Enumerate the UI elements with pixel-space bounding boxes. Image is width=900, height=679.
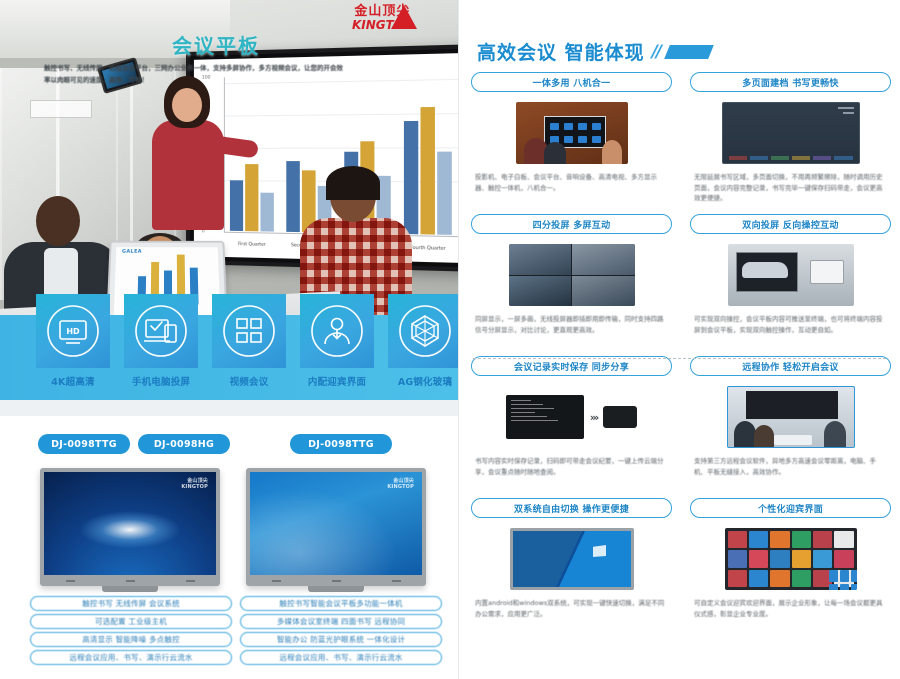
- section-divider: [0, 400, 458, 416]
- product-monitor-right: 金山顶尖 KINGTOP: [246, 468, 426, 586]
- feature-description: 投影机、电子白板、会议平台、音响设备、高清电视、多方显示器、触控一体机，八机合一…: [471, 172, 672, 193]
- model-badges: DJ-0098TTG DJ-0098HG DJ-0098TTG: [0, 434, 458, 456]
- screen-logo: 金山顶尖 KINGTOP: [387, 479, 414, 491]
- tablet-chart-title: GALEA: [122, 249, 142, 255]
- feature-card[interactable]: 四分投屏 多屏互动同屏显示，一屏多画，无线投屏器即插即用即传输，同时支持四路信号…: [471, 214, 672, 356]
- feature-description: 支持第三方远程会议软件，异地多方高速会议零距离，电脑、手机、平板无缝接入，高效协…: [690, 456, 891, 477]
- remote-meeting-thumb: [727, 386, 855, 448]
- note-to-phone-thumb: ›››: [506, 395, 638, 439]
- bar-group: [228, 165, 275, 232]
- ceiling-light-decor: [30, 100, 92, 118]
- phone-icon: [603, 406, 637, 428]
- product-screen-right: 金山顶尖 KINGTOP: [250, 472, 422, 575]
- welcome-user-icon: [300, 294, 374, 368]
- screen-logo-en: KINGTOP: [387, 484, 414, 490]
- chart-x-tick: First Quarter: [228, 242, 275, 248]
- brochure-page: 1007550250 First QuarterSecond QuarterTh…: [0, 0, 900, 679]
- bar: [420, 107, 434, 234]
- feature-thumbnail: [471, 242, 672, 308]
- feature-thumbnail: [690, 384, 891, 450]
- bar: [286, 161, 300, 232]
- monitor-controls: [246, 577, 426, 584]
- feature-pill[interactable]: 一体多用 八机合一: [471, 72, 672, 92]
- product-monitor-left: 金山顶尖 KINGTOP: [40, 468, 220, 586]
- dual-os-thumb: [510, 528, 634, 590]
- spec-list-left: 触控书写 无线传屏 会议系统可选配置 工业级主机高清显示 智能降噪 多点触控远程…: [30, 596, 232, 668]
- feature-pill[interactable]: 双系统自由切换 操作更便捷: [471, 498, 672, 518]
- feature-icon-label: 4K超高清: [36, 374, 110, 388]
- spec-pill: 触控书写 无线传屏 会议系统: [30, 596, 232, 611]
- right-panel-title: 高效会议 智能体现 //: [477, 38, 711, 65]
- products-section: DJ-0098TTG DJ-0098HG DJ-0098TTG 金山顶尖 KIN…: [0, 416, 458, 679]
- feature-icon-label: 内配迎宾界面: [300, 374, 374, 388]
- dark-whiteboard-thumb: [722, 102, 860, 164]
- spec-pill: 可选配置 工业级主机: [30, 614, 232, 629]
- feature-card[interactable]: 双系统自由切换 操作更便捷内置android和windows双系统，可实现一键快…: [471, 498, 672, 640]
- feature-thumbnail: [690, 526, 891, 592]
- feature-description: 可自定义会议迎宾欢迎界面，展示企业形象，让每一场会议都更具仪式感，彰显企业专业度…: [690, 598, 891, 619]
- feature-thumbnail: [471, 100, 672, 166]
- launcher-thumb: [725, 528, 857, 590]
- bar-group: [402, 107, 453, 235]
- feature-card[interactable]: 双向投屏 反向操控互动可实现双向操控，会议平板内容可推送至终端，也可将终端内容投…: [690, 214, 891, 356]
- hero-section: 1007550250 First QuarterSecond QuarterTh…: [0, 0, 458, 400]
- feature-description: 内置android和windows双系统，可实现一键快速切换，满足不同办公需求，…: [471, 598, 672, 619]
- feature-icon-label: 手机电脑投屏: [124, 374, 198, 388]
- monitor-stand: [102, 586, 158, 592]
- feature-pill[interactable]: 会议记录实时保存 同步分享: [471, 356, 672, 376]
- feature-pill[interactable]: 四分投屏 多屏互动: [471, 214, 672, 234]
- feature-thumbnail: [690, 100, 891, 166]
- spec-pill: 多媒体会议室终端 四面书写 远程协同: [240, 614, 442, 629]
- screen-cast-icon: [124, 294, 198, 368]
- feature-grid: 一体多用 八机合一投影机、电子白板、会议平台、音响设备、高清电视、多方显示器、触…: [471, 72, 891, 640]
- tempered-glass-icon: [388, 294, 458, 368]
- dashed-separator: [473, 358, 886, 359]
- feature-icon-cell[interactable]: HD4K超高清: [36, 294, 110, 388]
- feature-card[interactable]: 一体多用 八机合一投影机、电子白板、会议平台、音响设备、高清电视、多方显示器、触…: [471, 72, 672, 214]
- feature-thumbnail: [471, 526, 672, 592]
- bar: [230, 180, 243, 231]
- hero-title: 会议平板: [172, 30, 260, 59]
- grid-split-icon: [212, 294, 286, 368]
- spec-pill: 智能办公 防蓝光护眼系统 一体化设计: [240, 632, 442, 647]
- bar: [260, 193, 273, 232]
- model-badge[interactable]: DJ-0098TTG: [290, 434, 392, 454]
- brand-triangle-icon: [391, 5, 417, 29]
- feature-card[interactable]: 个性化迎宾界面可自定义会议迎宾欢迎界面，展示企业形象，让每一场会议都更具仪式感，…: [690, 498, 891, 640]
- monitor-controls: [40, 577, 220, 584]
- feature-thumbnail: [690, 242, 891, 308]
- feature-pill[interactable]: 个性化迎宾界面: [690, 498, 891, 518]
- model-badge[interactable]: DJ-0098TTG: [38, 434, 130, 454]
- screen-logo: 金山顶尖 KINGTOP: [181, 479, 208, 491]
- spec-pill: 远程会议应用、书写、演示行云流水: [240, 650, 442, 665]
- left-panel: 1007550250 First QuarterSecond QuarterTh…: [0, 0, 458, 679]
- bar: [437, 151, 452, 234]
- feature-pill[interactable]: 双向投屏 反向操控互动: [690, 214, 891, 234]
- feature-description: 无限延展书写区域，多页面切换，不用再频繁擦除，随时调用历史页面，会议内容完整记录…: [690, 172, 891, 204]
- right-panel: 高效会议 智能体现 // 一体多用 八机合一投影机、电子白板、会议平台、音响设备…: [458, 0, 900, 679]
- feature-icon-cell[interactable]: AG钢化玻璃: [388, 294, 458, 388]
- bar: [245, 165, 258, 232]
- transfer-arrow-icon: ›››: [590, 411, 598, 424]
- slash-decor-icon: //: [652, 42, 660, 62]
- quad-split-thumb: [509, 244, 635, 306]
- meeting-wall-thumb: [516, 102, 628, 164]
- feature-card[interactable]: 多页面建档 书写更畅快无限延展书写区域，多页面切换，不用再频繁擦除，随时调用历史…: [690, 72, 891, 214]
- hero-description: 触控书写、无线传屏、远程会议平台，三网办公业务一体，支持多屏协作，多方视频会议，…: [44, 62, 344, 87]
- whiteboard-note-icon: [506, 395, 584, 439]
- feature-icon-row: HD4K超高清手机电脑投屏视频会议内配迎宾界面AG钢化玻璃: [36, 294, 458, 388]
- bar-decor-icon: [664, 45, 714, 59]
- svg-text:HD: HD: [66, 327, 80, 336]
- feature-description: 书写内容实时保存记录，扫码即可带走会议纪要，一键上传云端分享，会议重点随时随地查…: [471, 456, 672, 477]
- bar: [404, 121, 418, 234]
- spec-list-right: 触控书写智能会议平板多功能一体机多媒体会议室终端 四面书写 远程协同智能办公 防…: [240, 596, 442, 668]
- model-badge[interactable]: DJ-0098HG: [138, 434, 230, 454]
- spec-pill: 远程会议应用、书写、演示行云流水: [30, 650, 232, 665]
- feature-icon-cell[interactable]: 手机电脑投屏: [124, 294, 198, 388]
- feature-card[interactable]: 会议记录实时保存 同步分享›››书写内容实时保存记录，扫码即可带走会议纪要，一键…: [471, 356, 672, 498]
- feature-icon-label: AG钢化玻璃: [388, 374, 458, 388]
- feature-icon-cell[interactable]: 视频会议: [212, 294, 286, 388]
- feature-icon-label: 视频会议: [212, 374, 286, 388]
- feature-pill[interactable]: 多页面建档 书写更畅快: [690, 72, 891, 92]
- screen-logo-en: KINGTOP: [181, 484, 208, 490]
- car-display-thumb: [728, 244, 854, 306]
- right-panel-title-text: 高效会议 智能体现: [477, 38, 645, 65]
- spec-pill: 高清显示 智能降噪 多点触控: [30, 632, 232, 647]
- feature-pill[interactable]: 远程协作 轻松开启会议: [690, 356, 891, 376]
- product-screen-left: 金山顶尖 KINGTOP: [44, 472, 216, 575]
- feature-description: 可实现双向操控，会议平板内容可推送至终端，也可将终端内容投屏到会议平板，实现双向…: [690, 314, 891, 335]
- monitor-stand: [308, 586, 364, 592]
- feature-description: 同屏显示，一屏多画，无线投屏器即插即用即传输，同时支持四路信号分屏显示，对比讨论…: [471, 314, 672, 335]
- brand-logo: 金山顶尖 KINGTOP: [352, 5, 413, 31]
- feature-card[interactable]: 远程协作 轻松开启会议支持第三方远程会议软件，异地多方高速会议零距离，电脑、手机…: [690, 356, 891, 498]
- spec-pill: 触控书写智能会议平板多功能一体机: [240, 596, 442, 611]
- feature-icon-cell[interactable]: 内配迎宾界面: [300, 294, 374, 388]
- hd-display-icon: HD: [36, 294, 110, 368]
- feature-thumbnail: ›››: [471, 384, 672, 450]
